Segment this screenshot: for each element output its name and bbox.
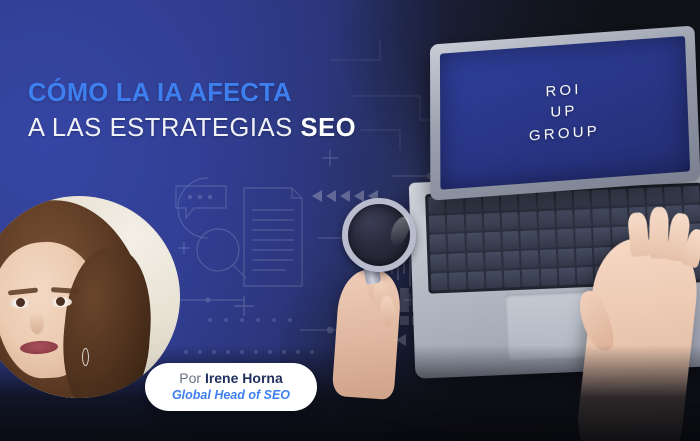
logo-line-3: GROUP (529, 120, 600, 147)
magnifying-glass-icon (197, 229, 246, 278)
roi-up-group-logo: ROI UP GROUP (528, 78, 600, 147)
laptop-illustration: ROI UP GROUP (404, 18, 700, 378)
dotted-row-2 (208, 318, 292, 322)
headline-line-2-emphasis: SEO (301, 114, 357, 142)
headline-line-2: A LAS ESTRATEGIAS SEO (28, 115, 388, 141)
byline-prefix: Por (179, 370, 205, 386)
laptop-screen: ROI UP GROUP (440, 36, 690, 190)
magnifying-glass-hand (330, 198, 440, 398)
promo-banner: CÓMO LA IA AFECTA A LAS ESTRATEGIAS SEO (0, 0, 700, 441)
headline-line-1: CÓMO LA IA AFECTA (28, 80, 388, 106)
author-byline: Por Irene Horna (179, 370, 283, 387)
author-role: Global Head of SEO (172, 388, 290, 404)
magnifier-lens-icon (342, 198, 416, 272)
author-name: Irene Horna (205, 370, 283, 386)
page-title: CÓMO LA IA AFECTA A LAS ESTRATEGIAS SEO (28, 80, 388, 141)
laptop-lid: ROI UP GROUP (430, 25, 700, 200)
author-badge: Por Irene Horna Global Head of SEO (145, 363, 317, 411)
headline-line-2-prefix: A LAS ESTRATEGIAS (28, 114, 301, 142)
document-lines-icon (244, 188, 302, 286)
